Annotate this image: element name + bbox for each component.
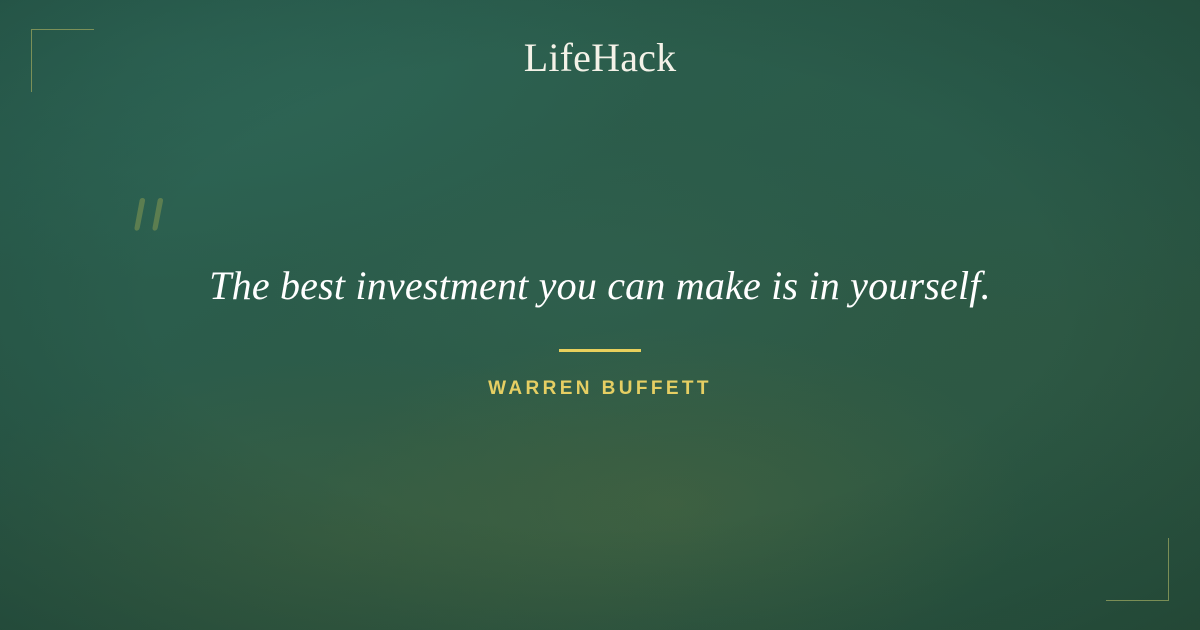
quote-card: LifeHack The best investment you can mak… [0, 0, 1200, 630]
quote-block: The best investment you can make is in y… [0, 262, 1200, 400]
corner-bracket-bottom-right-icon [1106, 538, 1169, 601]
quote-author: WARREN BUFFETT [0, 378, 1200, 400]
lifehack-logo: LifeHack [0, 38, 1200, 78]
quote-text: The best investment you can make is in y… [0, 262, 1200, 311]
quote-divider [559, 349, 641, 352]
quotation-mark-icon [128, 196, 180, 244]
